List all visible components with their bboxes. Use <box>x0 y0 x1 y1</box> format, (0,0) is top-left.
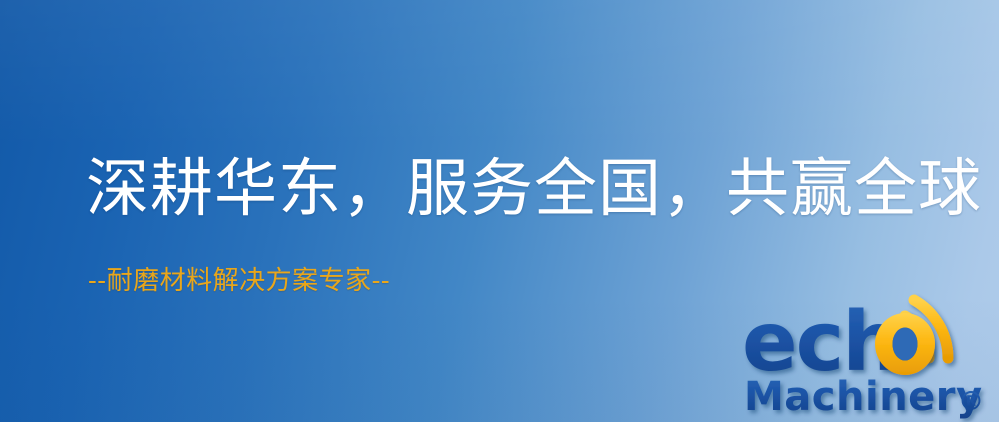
banner-headline: 深耕华东，服务全国，共赢全球 <box>86 151 982 227</box>
banner-subtitle: --耐磨材料解决方案专家-- <box>88 264 390 298</box>
logo-mark-graphic: ech Machinery ® <box>742 292 999 422</box>
logo-tagline-machinery: Machinery ® <box>744 374 984 420</box>
promo-banner: 深耕华东，服务全国，共赢全球 --耐磨材料解决方案专家-- echo Machi… <box>0 0 999 422</box>
svg-text:®: ® <box>958 387 984 417</box>
company-logo[interactable]: echo Machinery ® <box>742 292 999 422</box>
logo-o-ring <box>875 313 935 375</box>
svg-text:Machinery: Machinery <box>744 374 983 420</box>
